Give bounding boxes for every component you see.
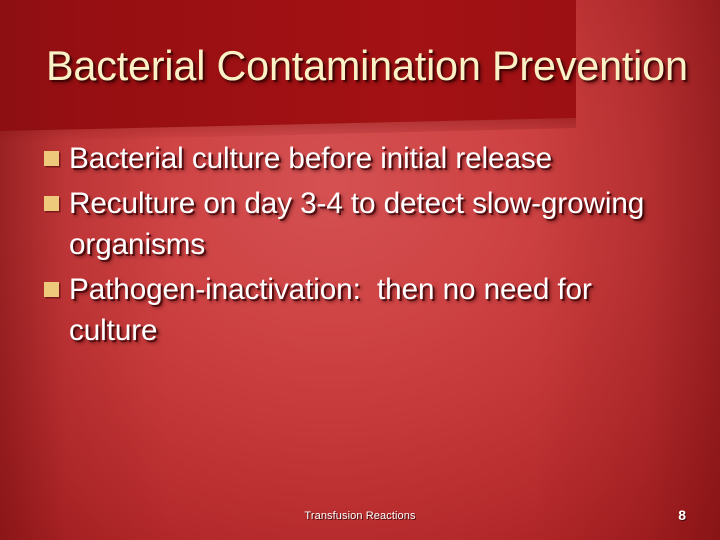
page-number: 8 xyxy=(678,506,686,524)
list-item: Bacterial culture before initial release xyxy=(44,138,692,179)
footer-label: Transfusion Reactions xyxy=(0,509,720,523)
list-item: Reculture on day 3-4 to detect slow-grow… xyxy=(44,183,692,265)
bullet-square-icon xyxy=(44,151,59,166)
bullet-list: Bacterial culture before initial release… xyxy=(44,138,692,355)
slide: Bacterial Contamination Prevention Bacte… xyxy=(0,0,720,540)
list-item-text: Reculture on day 3-4 to detect slow-grow… xyxy=(69,183,686,265)
bullet-square-icon xyxy=(44,196,59,211)
list-item: Pathogen-inactivation: then no need for … xyxy=(44,269,692,351)
list-item-text: Pathogen-inactivation: then no need for … xyxy=(69,269,686,351)
bullet-square-icon xyxy=(44,282,59,297)
slide-title: Bacterial Contamination Prevention xyxy=(46,38,676,94)
list-item-text: Bacterial culture before initial release xyxy=(69,138,686,179)
